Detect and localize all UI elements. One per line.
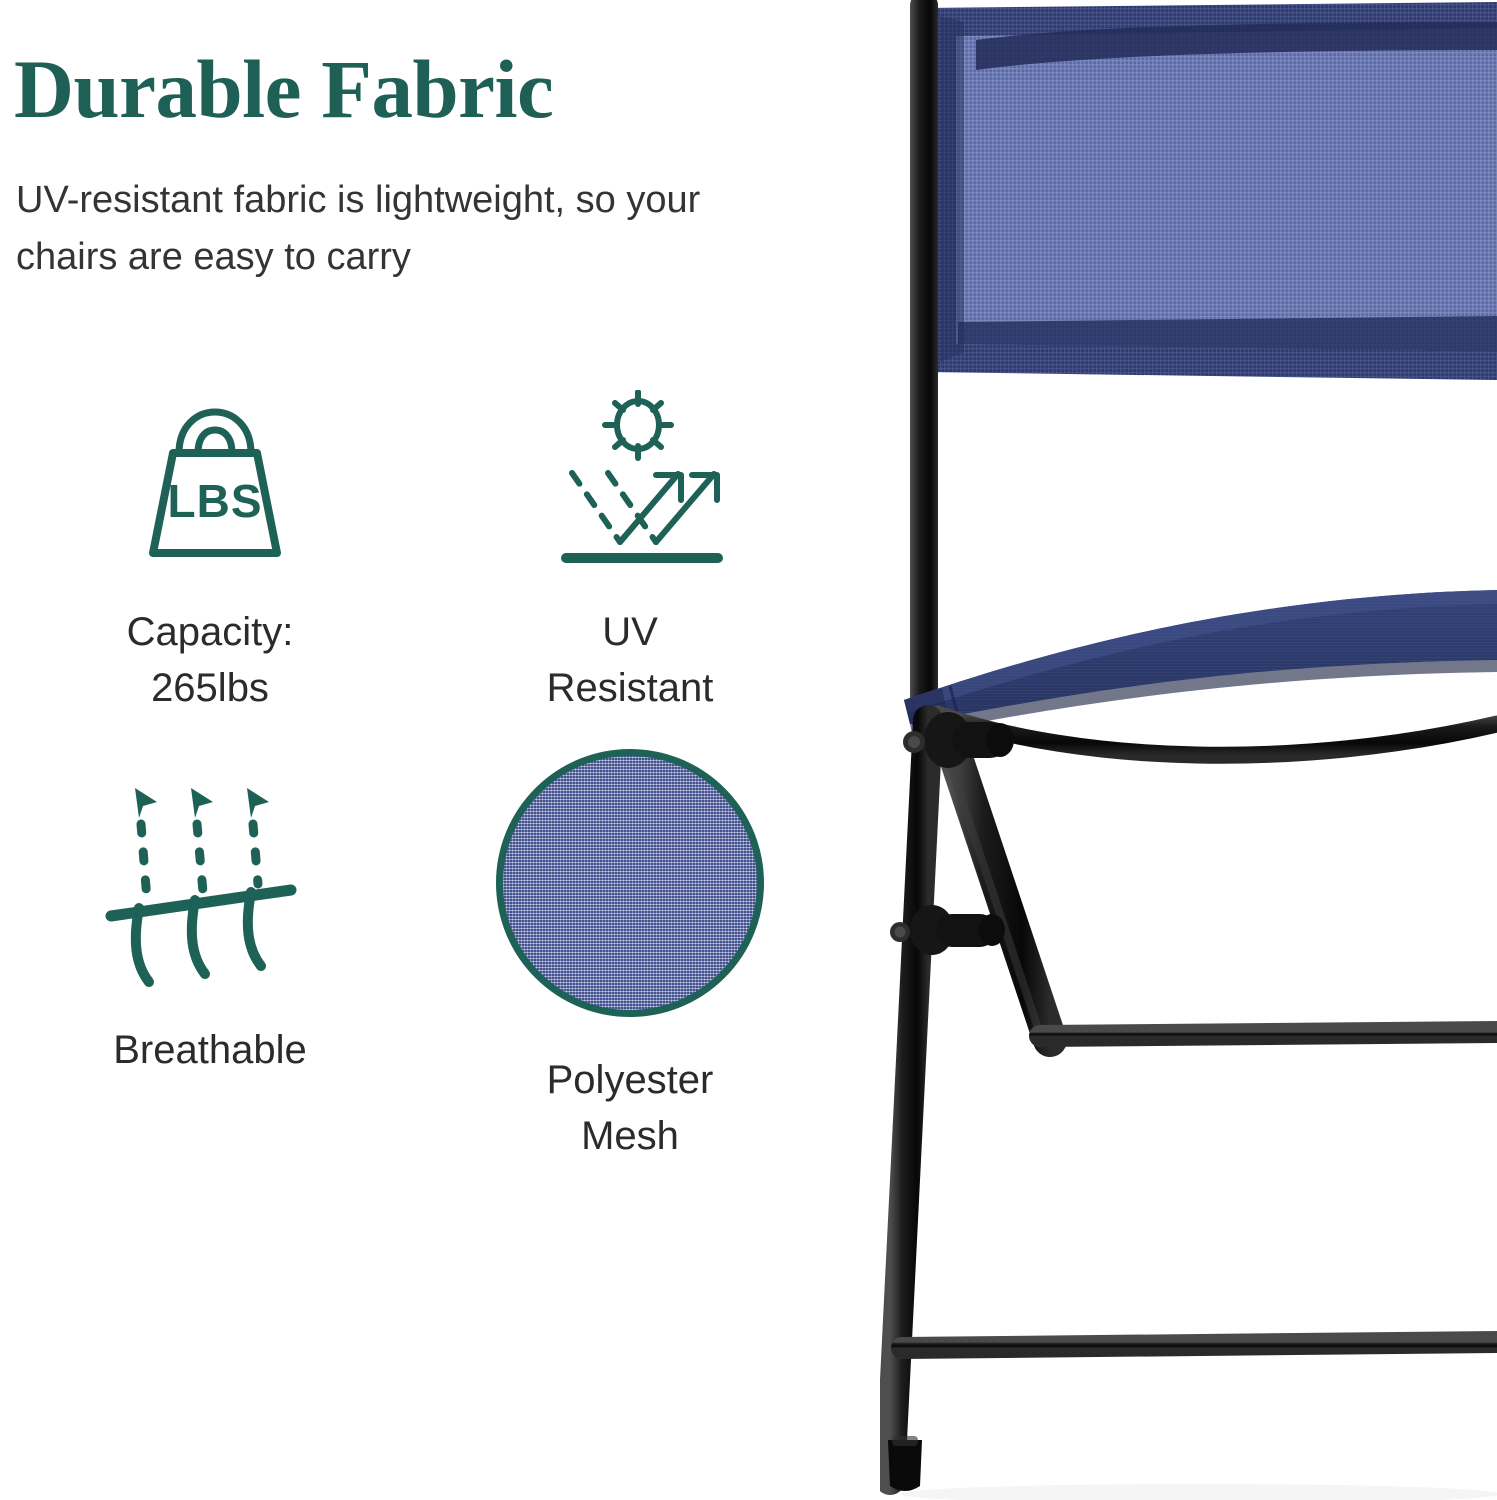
feature-item-breathable: Breathable	[0, 768, 420, 1164]
feature-text-panel: Durable Fabric UV-resistant fabric is li…	[0, 0, 880, 1500]
feature-item-capacity: LBS Capacity: 265lbs	[0, 390, 420, 720]
svg-text:LBS: LBS	[168, 475, 263, 527]
feature-item-mesh: Polyester Mesh	[420, 738, 840, 1164]
feature-label-capacity: Capacity: 265lbs	[127, 604, 294, 716]
product-feature-infographic: Durable Fabric UV-resistant fabric is li…	[0, 0, 1497, 1500]
mesh-fabric-swatch	[496, 749, 764, 1017]
feature-label-uv: UV Resistant	[547, 604, 714, 716]
product-photo-folding-chair	[880, 0, 1497, 1500]
backrest-mesh-panel	[924, 2, 1497, 380]
page-subtitle: UV-resistant fabric is lightweight, so y…	[16, 172, 806, 286]
feature-label-breathable: Breathable	[113, 1022, 306, 1078]
page-title: Durable Fabric	[14, 42, 553, 136]
mesh-swatch-icon	[496, 738, 764, 1028]
uv-sun-reflect-icon	[522, 390, 738, 580]
lower-crossbar	[1040, 1032, 1497, 1036]
feature-item-uv: UV Resistant	[420, 390, 840, 720]
weight-bag-icon: LBS	[110, 390, 310, 580]
foot-cap	[888, 1436, 922, 1491]
rear-upright-tube	[910, 0, 938, 729]
feature-grid: LBS Capacity: 265lbs	[0, 390, 880, 1164]
airflow-arrows-icon	[95, 768, 325, 998]
bottom-crossbar	[902, 1342, 1497, 1348]
feature-label-mesh: Polyester Mesh	[547, 1052, 714, 1164]
